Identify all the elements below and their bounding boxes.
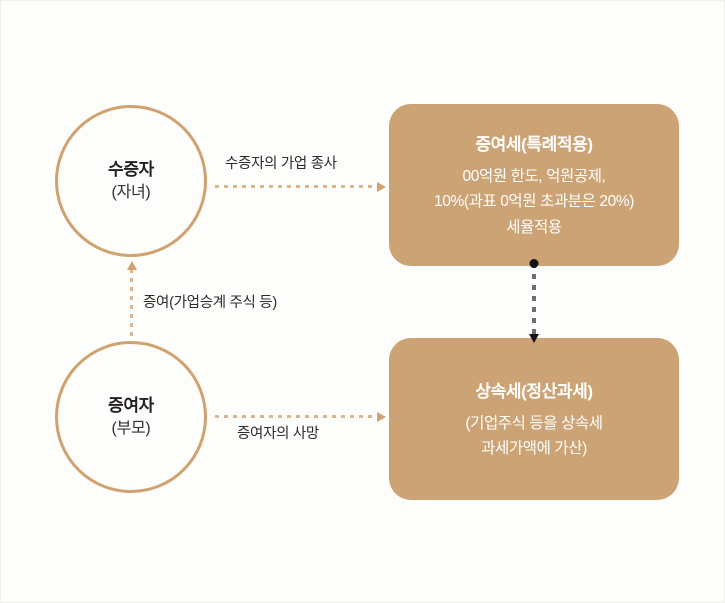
node-recipient-title: 수증자 <box>108 159 154 180</box>
node-gift-tax-line-1: 00억원 한도, 억원공제, <box>434 164 634 189</box>
edge-label-work: 수증자의 가업 종사 <box>225 156 337 173</box>
node-recipient-subtitle: (자녀) <box>112 182 151 204</box>
node-donor-subtitle: (부모) <box>112 418 151 440</box>
node-inheritance-tax-body: (기업주식 등을 상속세 과세가액에 가산) <box>465 411 602 461</box>
arrowhead-right-icon <box>377 412 386 422</box>
node-gift-tax-line-3: 세율적용 <box>434 215 634 240</box>
node-donor-title: 증여자 <box>108 395 154 416</box>
node-donor[interactable]: 증여자 (부모) <box>55 341 207 493</box>
arrow-recipient-to-gift-tax <box>215 185 385 188</box>
edge-label-death: 증여자의 사망 <box>237 426 319 443</box>
node-inheritance-tax[interactable]: 상속세(정산과세) (기업주식 등을 상속세 과세가액에 가산) <box>389 338 679 500</box>
arrow-donor-to-recipient <box>130 269 133 341</box>
arrowhead-down-icon <box>529 334 539 343</box>
edge-label-gift-transfer: 증여(가업승계 주식 등) <box>143 295 277 312</box>
node-gift-tax-line-2: 10%(과표 0억원 초과분은 20%) <box>434 189 634 214</box>
node-gift-tax-body: 00억원 한도, 억원공제, 10%(과표 0억원 초과분은 20%) 세율적용 <box>434 164 634 239</box>
arrowhead-right-icon <box>377 182 386 192</box>
arrow-donor-to-inheritance-tax <box>215 415 385 418</box>
node-inheritance-tax-title: 상속세(정산과세) <box>475 377 592 402</box>
node-gift-tax[interactable]: 증여세(특례적용) 00억원 한도, 억원공제, 10%(과표 0억원 초과분은… <box>389 104 679 266</box>
arrowhead-up-icon <box>127 261 137 270</box>
arrow-gift-tax-to-inheritance-tax <box>532 263 536 335</box>
node-gift-tax-title: 증여세(특례적용) <box>475 130 592 155</box>
node-recipient[interactable]: 수증자 (자녀) <box>55 105 207 257</box>
node-inheritance-tax-line-2: 과세가액에 가산) <box>465 436 602 461</box>
connector-dot-icon <box>530 259 539 268</box>
diagram-canvas: 수증자 (자녀) 증여자 (부모) 증여세(특례적용) 00억원 한도, 억원공… <box>0 0 725 603</box>
node-inheritance-tax-line-1: (기업주식 등을 상속세 <box>465 411 602 436</box>
